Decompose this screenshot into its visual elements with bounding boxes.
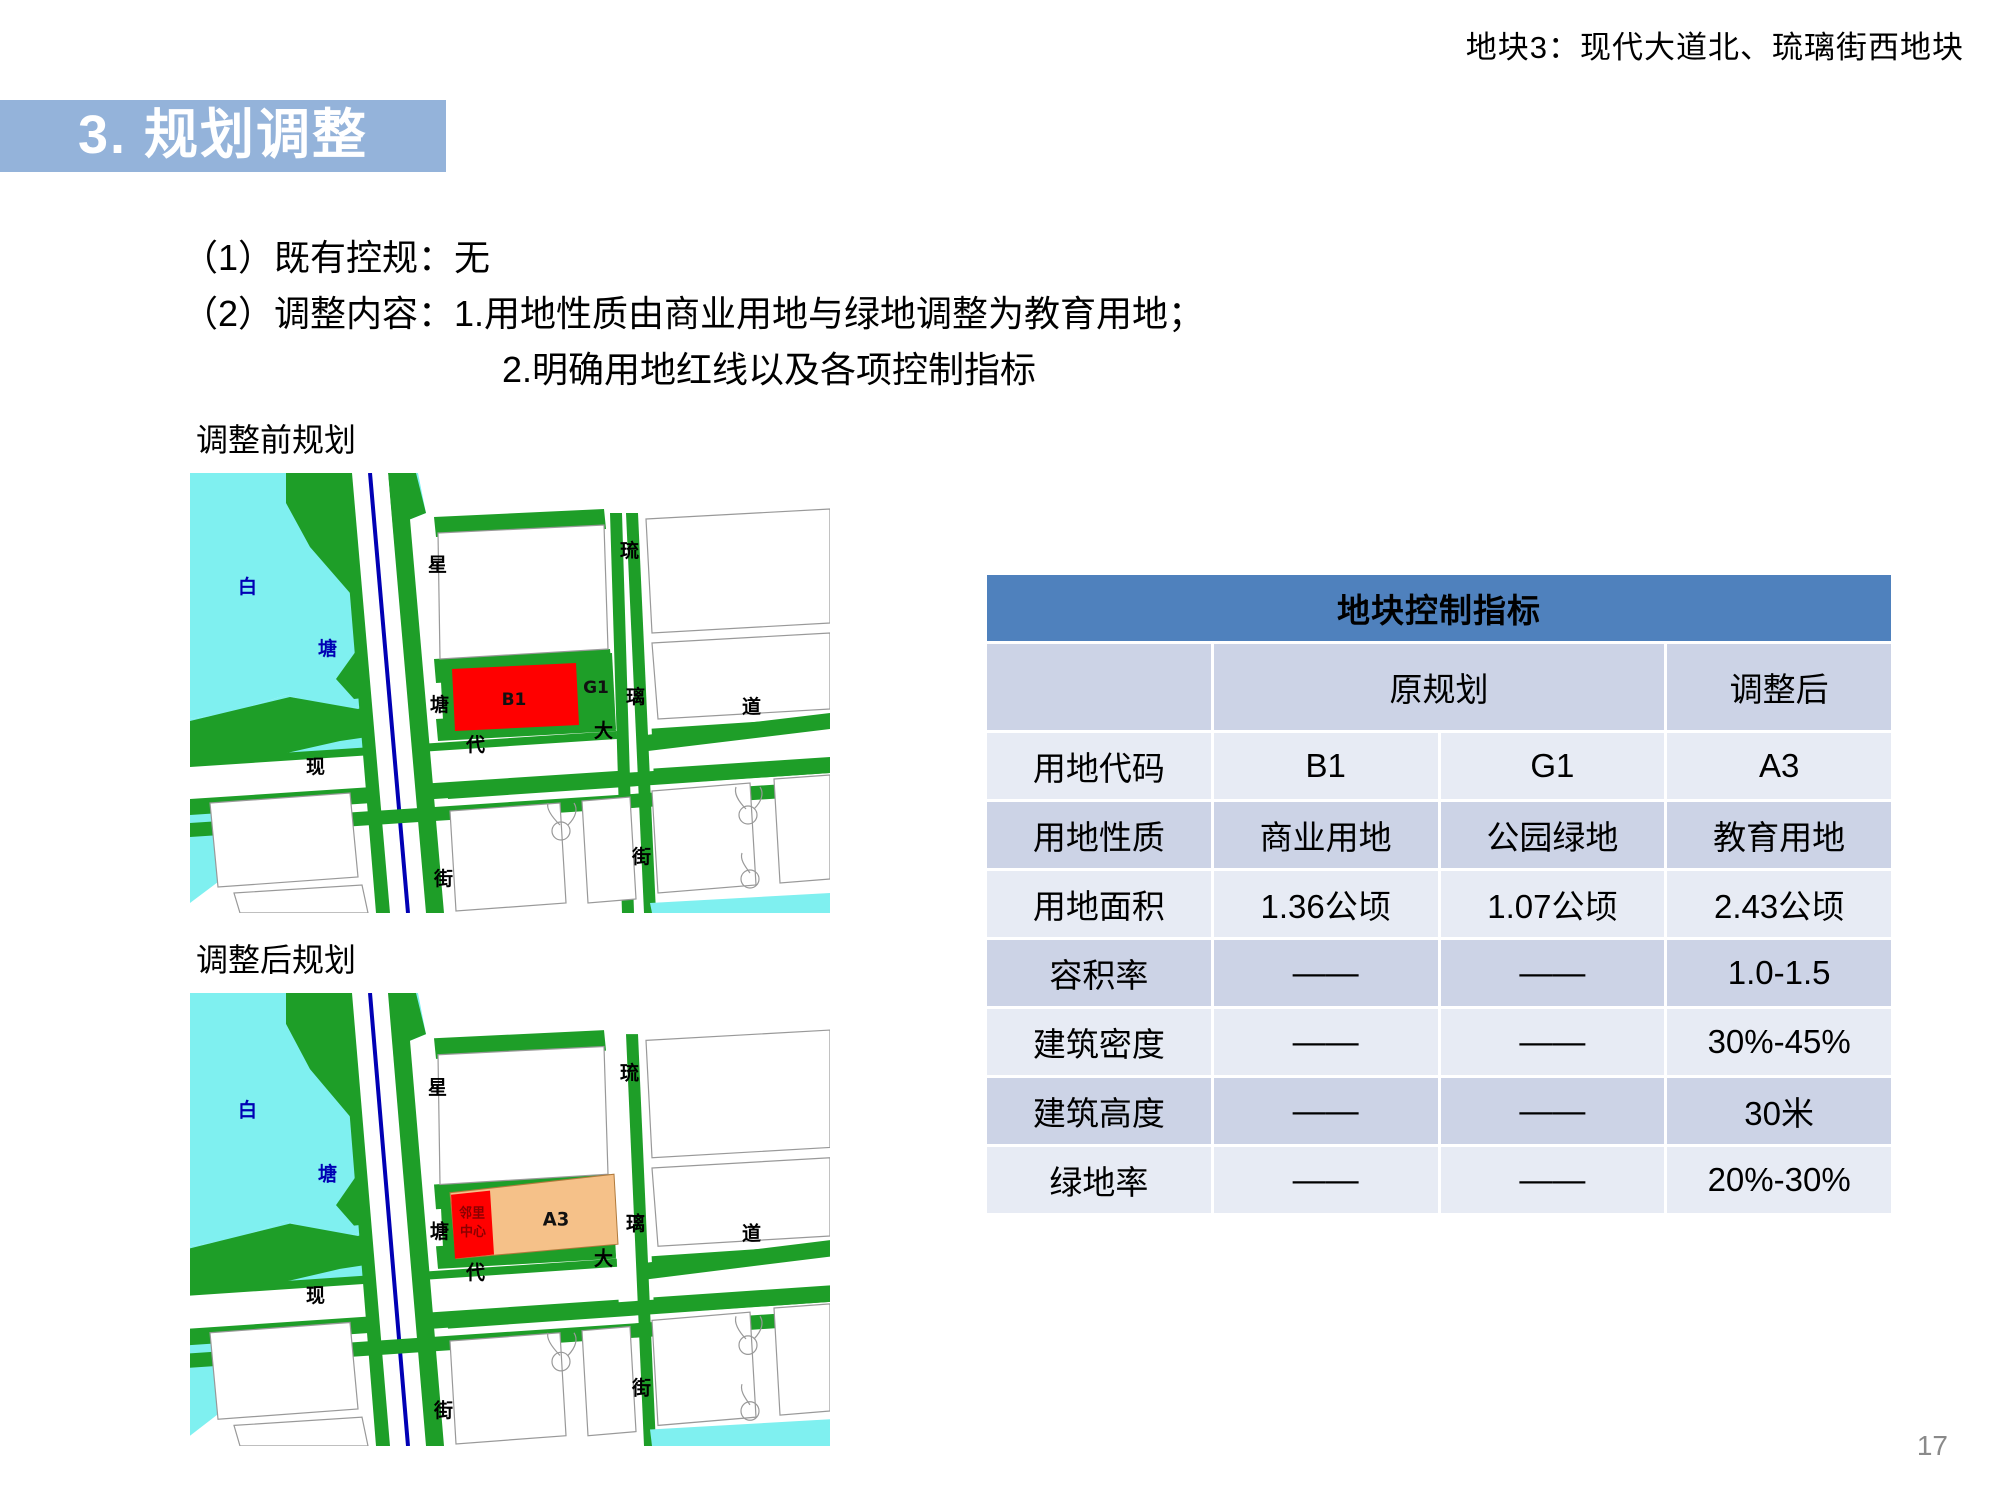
indicator-table-body: 地块控制指标 原规划 调整后 用地代码 B1 G1 A3 用地性质 商业用地 公… (987, 575, 1891, 1213)
table-row: 建筑高度 —— —— 30米 (987, 1078, 1891, 1144)
map-label-da-after: 大 (594, 1247, 614, 1270)
map-label-xian-after: 现 (306, 1284, 325, 1307)
map-label-jie2: 街 (631, 845, 651, 868)
map-label-tang-water: 塘 (318, 637, 337, 660)
table-header-original: 原规划 (1214, 644, 1665, 730)
section-title-banner: 3. 规划调整 (0, 100, 446, 172)
row-label: 建筑高度 (987, 1078, 1211, 1144)
table-title: 地块控制指标 (987, 575, 1891, 641)
row-label: 用地代码 (987, 733, 1211, 799)
map-label-bai-after: 白 (238, 1098, 257, 1121)
table-row: 容积率 —— —— 1.0-1.5 (987, 940, 1891, 1006)
row-value-b1: —— (1214, 1009, 1438, 1075)
body-paragraphs: （1）既有控规：无 （2）调整内容：1.用地性质由商业用地与绿地调整为教育用地；… (182, 230, 1204, 398)
table-header-row: 原规划 调整后 (987, 644, 1891, 730)
table-header-blank (987, 644, 1211, 730)
map-label-xing-after: 星 (428, 1076, 447, 1099)
map-label-xing: 星 (428, 554, 447, 576)
indicator-table: 地块控制指标 原规划 调整后 用地代码 B1 G1 A3 用地性质 商业用地 公… (984, 572, 1894, 1216)
map-label-liu: 琉 (620, 539, 639, 562)
map-label-li: 璃 (626, 685, 645, 708)
slide-header-breadcrumb: 地块3：现代大道北、琉璃街西地块 (1466, 22, 1964, 67)
page-title: 3. 规划调整 (78, 98, 368, 172)
table-row: 用地性质 商业用地 公园绿地 教育用地 (987, 802, 1891, 868)
body-line-3: 2.明确用地红线以及各项控制指标 (182, 342, 1204, 398)
map-label-tang-street: 塘 (430, 693, 449, 716)
row-value-adjusted: 20%-30% (1667, 1147, 1891, 1213)
row-label: 建筑密度 (987, 1009, 1211, 1075)
row-value-g1: 公园绿地 (1441, 802, 1665, 868)
map-caption-after: 调整后规划 (196, 935, 356, 981)
row-value-b1: B1 (1214, 733, 1438, 799)
page-number: 17 (1917, 1430, 1948, 1462)
map-label-dai: 代 (465, 734, 485, 756)
row-value-b1: —— (1214, 1147, 1438, 1213)
body-line-2: （2）调整内容：1.用地性质由商业用地与绿地调整为教育用地； (182, 286, 1204, 342)
row-value-g1: —— (1441, 940, 1665, 1006)
table-title-row: 地块控制指标 (987, 575, 1891, 641)
row-value-g1: G1 (1441, 733, 1665, 799)
svg-text:邻里: 邻里 (459, 1204, 485, 1221)
map-label-jie2-after: 街 (631, 1376, 651, 1399)
row-value-b1: 1.36公顷 (1214, 871, 1438, 937)
row-value-adjusted: 30%-45% (1667, 1009, 1891, 1075)
row-label: 用地性质 (987, 802, 1211, 868)
row-value-g1: —— (1441, 1147, 1665, 1213)
row-value-b1: —— (1214, 940, 1438, 1006)
table-row: 用地代码 B1 G1 A3 (987, 733, 1891, 799)
map-label-dao-after: 道 (742, 1222, 762, 1245)
row-label: 绿地率 (987, 1147, 1211, 1213)
row-value-adjusted: 教育用地 (1667, 802, 1891, 868)
row-value-adjusted: 30米 (1667, 1078, 1891, 1144)
map-label-li-after: 璃 (626, 1212, 645, 1235)
map-label-liu-after: 琉 (620, 1061, 639, 1084)
table-header-adjusted: 调整后 (1667, 644, 1891, 730)
table-row: 用地面积 1.36公顷 1.07公顷 2.43公顷 (987, 871, 1891, 937)
map-label-jie-after: 街 (433, 1399, 453, 1422)
map-label-xian: 现 (306, 756, 325, 778)
table-row: 建筑密度 —— —— 30%-45% (987, 1009, 1891, 1075)
row-label: 用地面积 (987, 871, 1211, 937)
row-value-g1: —— (1441, 1009, 1665, 1075)
row-label: 容积率 (987, 940, 1211, 1006)
row-value-g1: 1.07公顷 (1441, 871, 1665, 937)
header-divider (0, 82, 2000, 85)
svg-text:中心: 中心 (460, 1223, 487, 1240)
table-row: 绿地率 —— —— 20%-30% (987, 1147, 1891, 1213)
map-caption-before: 调整前规划 (196, 415, 356, 461)
map-label-da: 大 (594, 719, 613, 742)
map-label-dao: 道 (742, 695, 761, 718)
map-label-jie: 街 (433, 867, 453, 890)
map-label-tang-water-after: 塘 (318, 1162, 337, 1185)
map-label-tang-street-after: 塘 (430, 1220, 449, 1243)
map-parcel-label-b1: B1 (502, 690, 527, 710)
map-label-bai: 白 (238, 575, 257, 598)
row-value-b1: 商业用地 (1214, 802, 1438, 868)
map-before-adjustment: 白 塘 星 塘 代 街 现 琉 璃 大 道 街 B1 G1 (190, 473, 830, 913)
row-value-adjusted: A3 (1667, 733, 1891, 799)
row-value-adjusted: 2.43公顷 (1667, 871, 1891, 937)
indicator-table-wrapper: 地块控制指标 原规划 调整后 用地代码 B1 G1 A3 用地性质 商业用地 公… (984, 572, 1894, 1216)
map-after-adjustment: 白 塘 星 塘 代 街 现 琉 璃 大 道 街 A3 邻里 中心 (190, 993, 830, 1446)
map-parcel-label-a3: A3 (543, 1209, 569, 1230)
map-parcel-label-g1: G1 (583, 678, 609, 698)
row-value-b1: —— (1214, 1078, 1438, 1144)
body-line-1: （1）既有控规：无 (182, 230, 1204, 286)
row-value-adjusted: 1.0-1.5 (1667, 940, 1891, 1006)
map-label-dai-after: 代 (465, 1261, 486, 1284)
row-value-g1: —— (1441, 1078, 1665, 1144)
